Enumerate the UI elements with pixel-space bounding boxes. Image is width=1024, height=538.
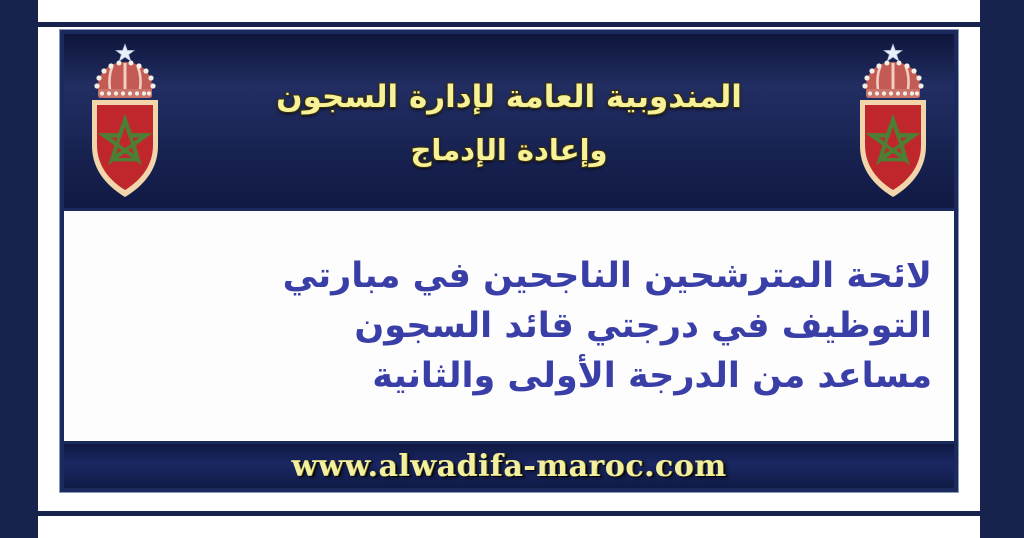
royal-crown-shield-emblem <box>846 42 940 200</box>
announcement-title-line-2: التوظيف في درجتي قائد السجون <box>86 303 932 349</box>
royal-crown-shield-emblem <box>78 42 172 200</box>
header-title-group: المندوبية العامة لإدارة السجون وإعادة ال… <box>64 34 954 208</box>
bottom-divider-rule <box>38 511 980 516</box>
footer-band: www.alwadifa-maroc.com <box>64 444 954 489</box>
announcement-card: المندوبية العامة لإدارة السجون وإعادة ال… <box>60 30 958 492</box>
announcement-title-line-1: لائحة المترشحين الناجحين في مبارتي <box>86 253 932 299</box>
crown-star-finial <box>884 44 902 61</box>
announcement-title-line-3: مساعد من الدرجة الأولى والثانية <box>86 353 932 399</box>
website-url[interactable]: www.alwadifa-maroc.com <box>292 449 727 484</box>
poster-root: المندوبية العامة لإدارة السجون وإعادة ال… <box>0 0 1024 538</box>
organization-name-line-1: المندوبية العامة لإدارة السجون <box>276 81 742 114</box>
crown-star-finial <box>116 44 134 61</box>
crown-body <box>862 61 923 99</box>
moroccan-shield <box>860 100 926 197</box>
moroccan-shield <box>92 100 158 197</box>
top-divider-rule <box>38 22 980 27</box>
announcement-title-panel: لائحة المترشحين الناجحين في مبارتي التوظ… <box>64 208 954 444</box>
header-band: المندوبية العامة لإدارة السجون وإعادة ال… <box>64 34 954 208</box>
crown-body <box>94 61 155 99</box>
organization-name-line-2: وإعادة الإدماج <box>410 135 607 165</box>
